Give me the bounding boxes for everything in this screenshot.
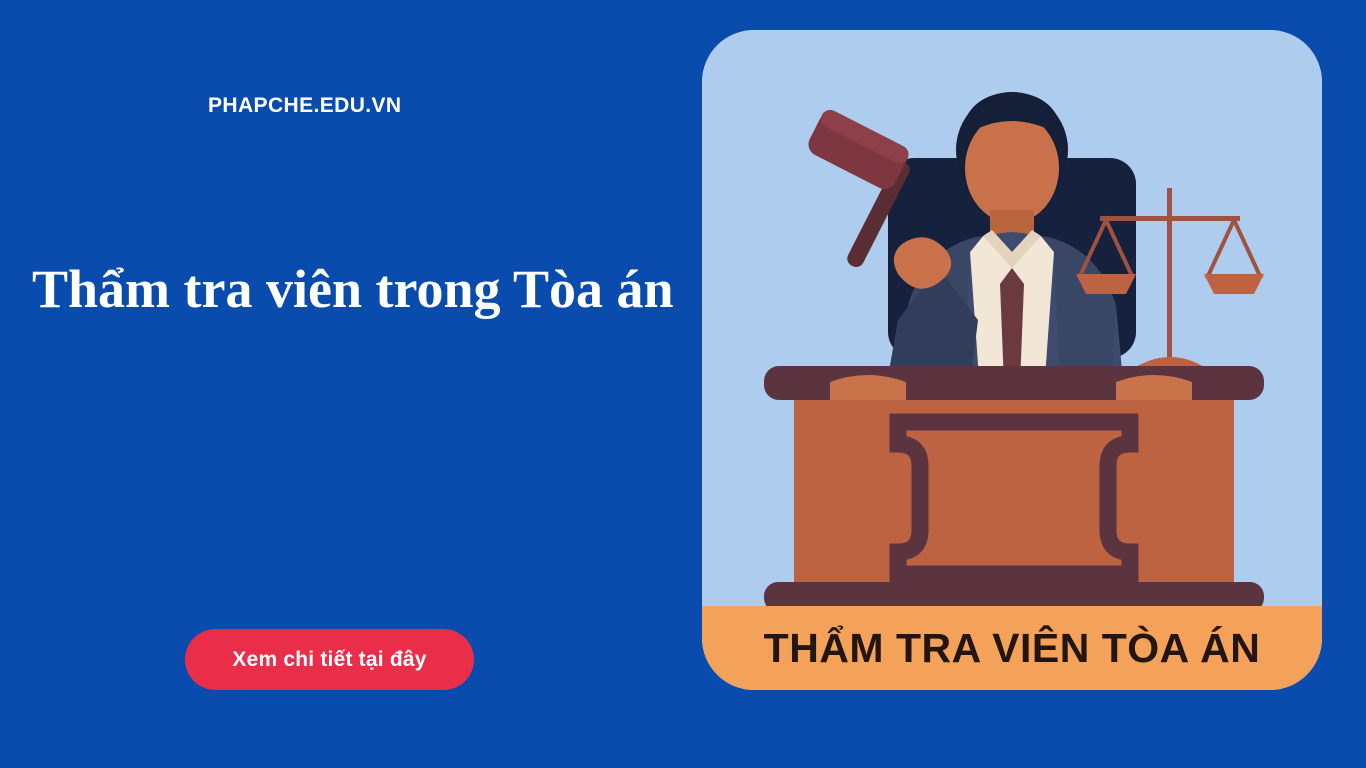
view-details-button[interactable]: Xem chi tiết tại đây [185, 629, 474, 690]
scales-left-pan [1076, 274, 1136, 294]
scales-right-pan [1204, 274, 1264, 294]
bench-top-notch-left [830, 375, 906, 400]
page-title: Thẩm tra viên trong Tòa án [32, 259, 692, 319]
face-shape [965, 113, 1059, 223]
brand-wordmark: PHAPCHE.EDU.VN [208, 94, 401, 118]
bench-top-notch-right [1116, 375, 1192, 400]
cta-container: Xem chi tiết tại đây [185, 629, 474, 690]
caption-band: THẨM TRA VIÊN TÒA ÁN [702, 606, 1322, 690]
caption-text: THẨM TRA VIÊN TÒA ÁN [764, 625, 1261, 672]
scales-beam [1100, 216, 1240, 221]
illustration-card: THẨM TRA VIÊN TÒA ÁN [702, 30, 1322, 690]
judge-at-bench-icon [702, 30, 1322, 690]
